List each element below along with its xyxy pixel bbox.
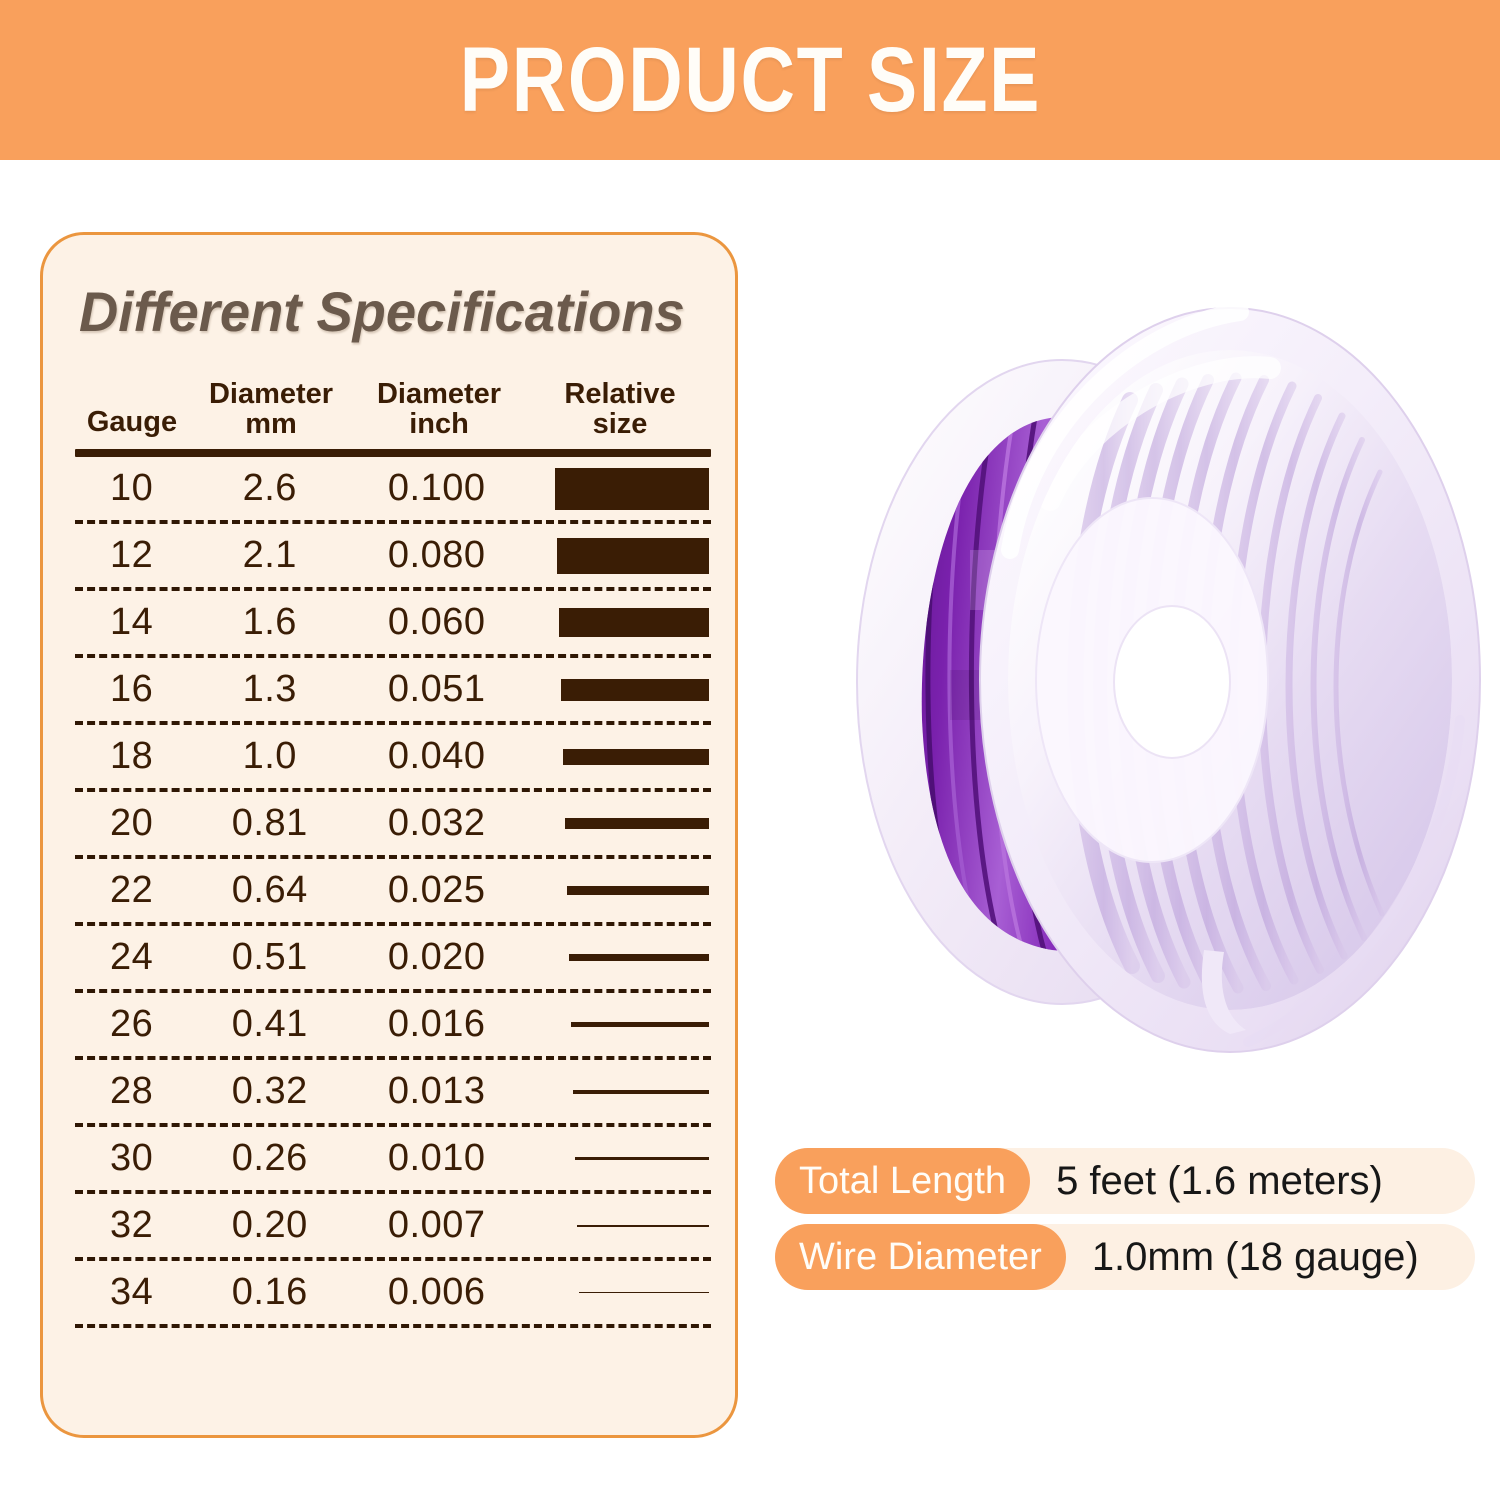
table-row: 181.00.040 bbox=[73, 725, 713, 788]
cell-relative-size bbox=[524, 1292, 713, 1293]
cell-relative-size bbox=[524, 1022, 713, 1027]
relative-size-bar bbox=[561, 679, 709, 701]
relative-size-bar bbox=[563, 749, 709, 765]
cell-gauge: 24 bbox=[73, 936, 190, 979]
cell-diameter-mm: 0.26 bbox=[190, 1137, 349, 1180]
cell-diameter-mm: 0.41 bbox=[190, 1003, 349, 1046]
cell-relative-size bbox=[524, 679, 713, 701]
cell-relative-size bbox=[524, 954, 713, 961]
table-body: 102.60.100122.10.080141.60.060161.30.051… bbox=[73, 457, 713, 1328]
table-row: 320.200.007 bbox=[73, 1194, 713, 1257]
cell-diameter-inch: 0.006 bbox=[349, 1271, 524, 1314]
cell-gauge: 28 bbox=[73, 1070, 190, 1113]
cell-gauge: 32 bbox=[73, 1204, 190, 1247]
page-title: PRODUCT SIZE bbox=[459, 28, 1040, 133]
cell-relative-size bbox=[524, 468, 713, 510]
cell-gauge: 34 bbox=[73, 1271, 190, 1314]
cell-relative-size bbox=[524, 886, 713, 895]
relative-size-bar bbox=[571, 1022, 709, 1027]
cell-gauge: 30 bbox=[73, 1137, 190, 1180]
cell-diameter-mm: 2.1 bbox=[190, 534, 349, 577]
cell-diameter-mm: 0.81 bbox=[190, 802, 349, 845]
cell-diameter-mm: 1.0 bbox=[190, 735, 349, 778]
relative-size-bar bbox=[567, 886, 709, 895]
column-header-diameter-mm: Diameter mm bbox=[191, 380, 351, 439]
product-info-list: Total Length 5 feet (1.6 meters) Wire Di… bbox=[775, 1148, 1475, 1300]
cell-diameter-mm: 0.32 bbox=[190, 1070, 349, 1113]
relative-size-bar bbox=[575, 1157, 709, 1160]
info-row-total-length: Total Length 5 feet (1.6 meters) bbox=[775, 1148, 1475, 1214]
specifications-panel: Different Specifications Gauge Diameter … bbox=[40, 232, 738, 1438]
cell-diameter-inch: 0.032 bbox=[349, 802, 524, 845]
cell-gauge: 12 bbox=[73, 534, 190, 577]
cell-diameter-mm: 0.64 bbox=[190, 869, 349, 912]
cell-diameter-mm: 0.16 bbox=[190, 1271, 349, 1314]
product-size-banner: PRODUCT SIZE bbox=[0, 0, 1500, 160]
info-row-wire-diameter: Wire Diameter 1.0mm (18 gauge) bbox=[775, 1224, 1475, 1290]
table-row: 141.60.060 bbox=[73, 591, 713, 654]
table-header-row: Gauge Diameter mm Diameter inch Relative… bbox=[73, 380, 713, 449]
cell-relative-size bbox=[524, 538, 713, 574]
cell-diameter-inch: 0.016 bbox=[349, 1003, 524, 1046]
cell-relative-size bbox=[524, 608, 713, 637]
table-row: 280.320.013 bbox=[73, 1060, 713, 1123]
cell-diameter-inch: 0.100 bbox=[349, 467, 524, 510]
cell-diameter-mm: 1.6 bbox=[190, 601, 349, 644]
cell-diameter-inch: 0.013 bbox=[349, 1070, 524, 1113]
spool-svg bbox=[800, 250, 1490, 1100]
info-value-total-length: 5 feet (1.6 meters) bbox=[1030, 1159, 1383, 1204]
cell-diameter-mm: 2.6 bbox=[190, 467, 349, 510]
cell-gauge: 18 bbox=[73, 735, 190, 778]
cell-diameter-inch: 0.020 bbox=[349, 936, 524, 979]
cell-gauge: 16 bbox=[73, 668, 190, 711]
cell-relative-size bbox=[524, 1225, 713, 1227]
cell-gauge: 26 bbox=[73, 1003, 190, 1046]
relative-size-bar bbox=[579, 1292, 709, 1293]
cell-diameter-inch: 0.051 bbox=[349, 668, 524, 711]
relative-size-bar bbox=[565, 818, 709, 829]
relative-size-bar bbox=[573, 1090, 709, 1094]
relative-size-bar bbox=[569, 954, 709, 961]
cell-diameter-mm: 0.51 bbox=[190, 936, 349, 979]
relative-size-bar bbox=[559, 608, 709, 637]
row-divider bbox=[75, 1324, 711, 1328]
wire-spool-illustration bbox=[800, 250, 1490, 1100]
cell-diameter-inch: 0.040 bbox=[349, 735, 524, 778]
table-row: 260.410.016 bbox=[73, 993, 713, 1056]
gauge-table: Gauge Diameter mm Diameter inch Relative… bbox=[73, 380, 713, 1328]
relative-size-bar bbox=[555, 468, 709, 510]
cell-relative-size bbox=[524, 818, 713, 829]
cell-gauge: 14 bbox=[73, 601, 190, 644]
column-header-relative-size: Relative size bbox=[527, 380, 713, 439]
cell-relative-size bbox=[524, 749, 713, 765]
cell-gauge: 10 bbox=[73, 467, 190, 510]
cell-relative-size bbox=[524, 1157, 713, 1160]
product-photo bbox=[800, 250, 1490, 1100]
table-row: 161.30.051 bbox=[73, 658, 713, 721]
relative-size-bar bbox=[557, 538, 709, 574]
table-row: 240.510.020 bbox=[73, 926, 713, 989]
info-label-total-length: Total Length bbox=[775, 1148, 1030, 1214]
table-row: 102.60.100 bbox=[73, 457, 713, 520]
table-row: 340.160.006 bbox=[73, 1261, 713, 1324]
table-row: 122.10.080 bbox=[73, 524, 713, 587]
cell-relative-size bbox=[524, 1090, 713, 1094]
cell-diameter-inch: 0.007 bbox=[349, 1204, 524, 1247]
table-row: 220.640.025 bbox=[73, 859, 713, 922]
cell-diameter-mm: 1.3 bbox=[190, 668, 349, 711]
cell-diameter-inch: 0.025 bbox=[349, 869, 524, 912]
cell-diameter-inch: 0.010 bbox=[349, 1137, 524, 1180]
cell-diameter-mm: 0.20 bbox=[190, 1204, 349, 1247]
column-header-gauge: Gauge bbox=[73, 408, 191, 440]
relative-size-bar bbox=[577, 1225, 709, 1227]
cell-diameter-inch: 0.060 bbox=[349, 601, 524, 644]
table-row: 200.810.032 bbox=[73, 792, 713, 855]
info-value-wire-diameter: 1.0mm (18 gauge) bbox=[1066, 1235, 1419, 1280]
cell-gauge: 20 bbox=[73, 802, 190, 845]
info-label-wire-diameter: Wire Diameter bbox=[775, 1224, 1066, 1290]
panel-title: Different Specifications bbox=[79, 279, 685, 344]
cell-diameter-inch: 0.080 bbox=[349, 534, 524, 577]
cell-gauge: 22 bbox=[73, 869, 190, 912]
header-divider bbox=[75, 449, 711, 457]
column-header-diameter-inch: Diameter inch bbox=[351, 380, 527, 439]
table-row: 300.260.010 bbox=[73, 1127, 713, 1190]
